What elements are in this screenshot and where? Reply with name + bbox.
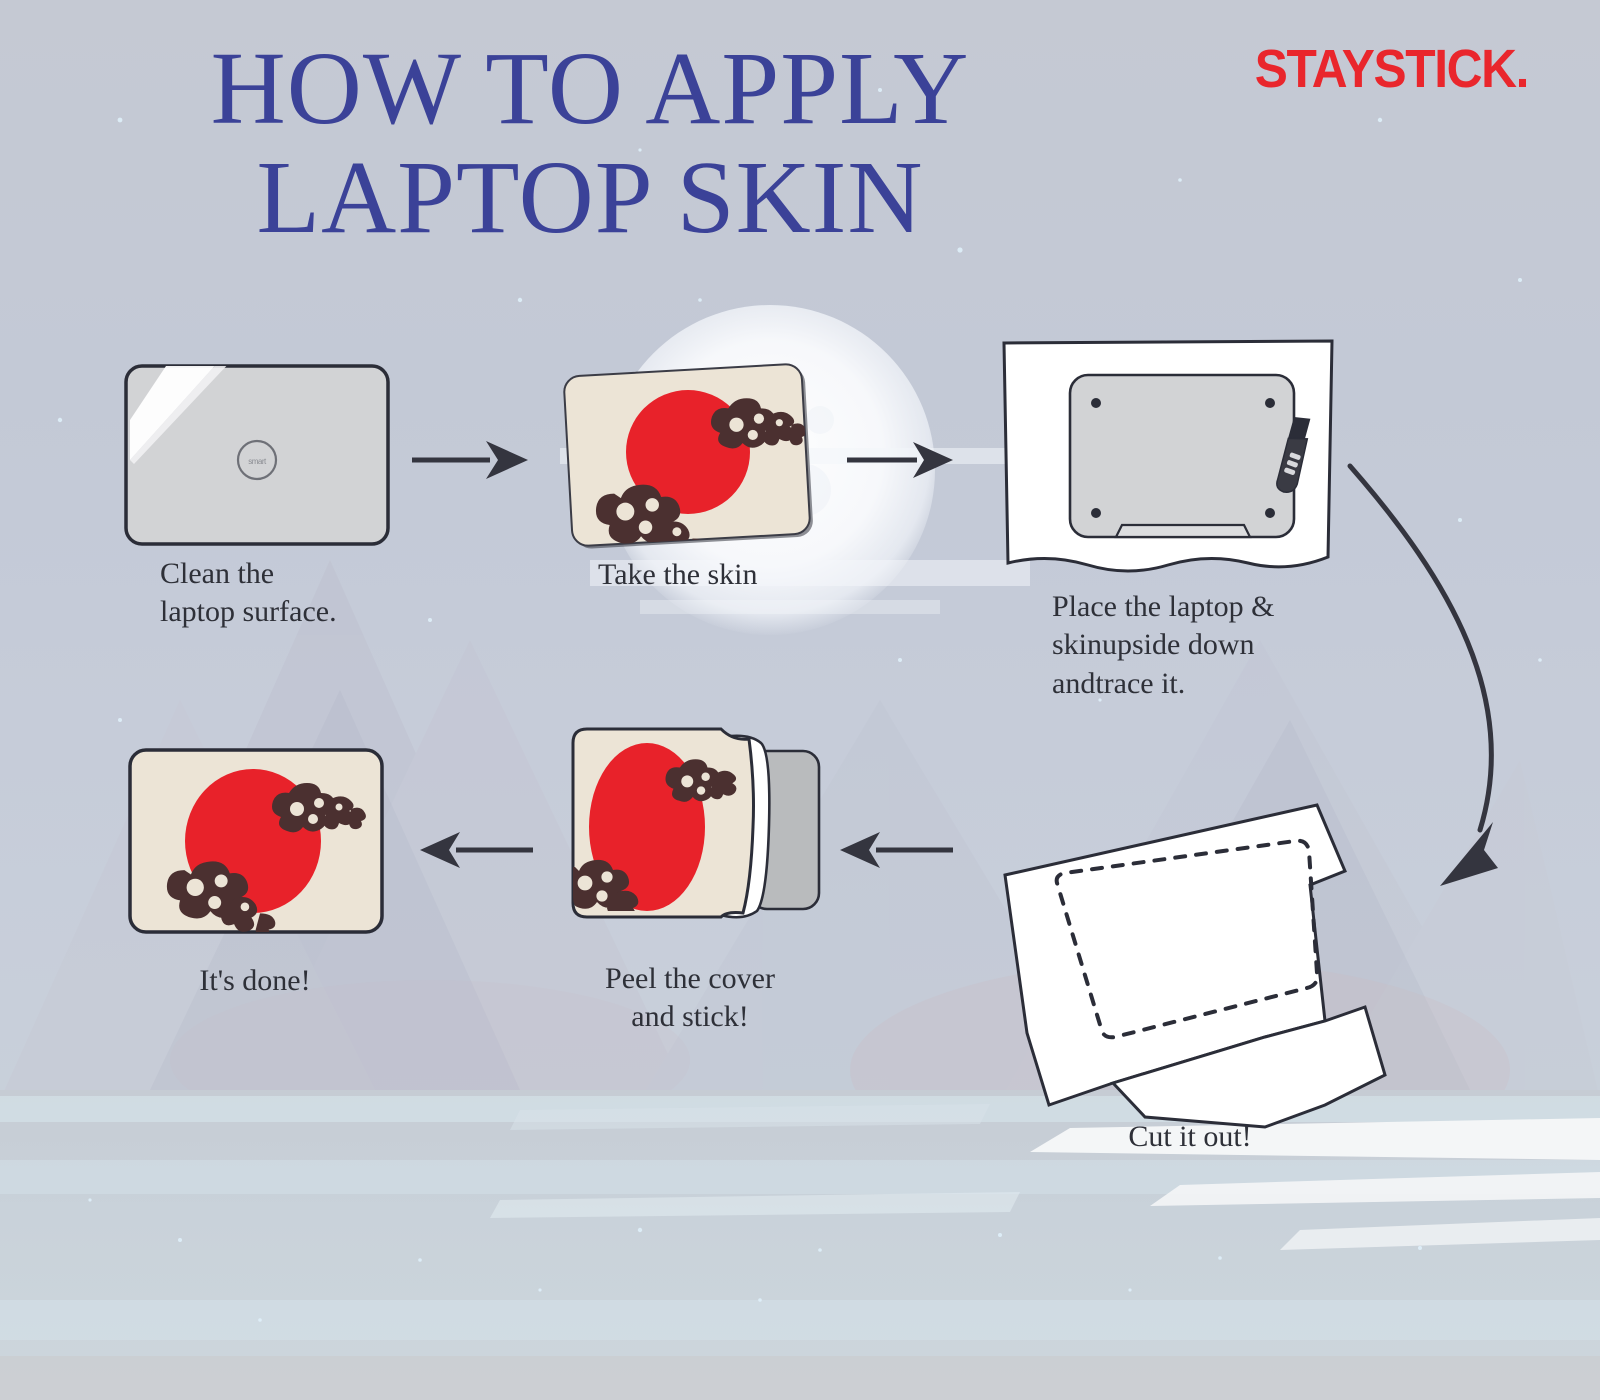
caption-cut: Cut it out! [1040,1118,1340,1156]
caption-peel: Peel the cover and stick! [545,960,835,1037]
step-take-skin-art [560,360,830,560]
svg-text:smart: smart [248,457,267,466]
step-clean-art: smart [120,360,410,560]
arrow-right-icon-2 [845,435,955,485]
page-title: HOW TO APPLY LAPTOP SKIN [0,34,1180,252]
caption-trace: Place the laptop & skinupside down andtr… [1052,588,1274,703]
step-cut-art [965,775,1385,1135]
step-trace-art [998,335,1338,590]
caption-clean: Clean the laptop surface. [160,555,337,632]
step-done-art [125,745,387,937]
step-peel-art [555,715,825,935]
title-line-2: LAPTOP SKIN [0,143,1180,252]
laptop-logo-badge-icon: smart [238,441,276,479]
laptop-bottom-face [1070,375,1294,537]
arrow-left-icon-2 [420,825,535,875]
brand-logo: STAYSTICK. [1255,38,1528,100]
title-line-1: HOW TO APPLY [211,31,970,146]
caption-done: It's done! [120,962,390,1000]
infographic-canvas: HOW TO APPLY LAPTOP SKIN STAYSTICK. smar… [0,0,1600,1400]
arrow-right-icon [410,435,530,485]
arrow-left-icon [840,825,955,875]
caption-take-skin: Take the skin [598,556,758,594]
